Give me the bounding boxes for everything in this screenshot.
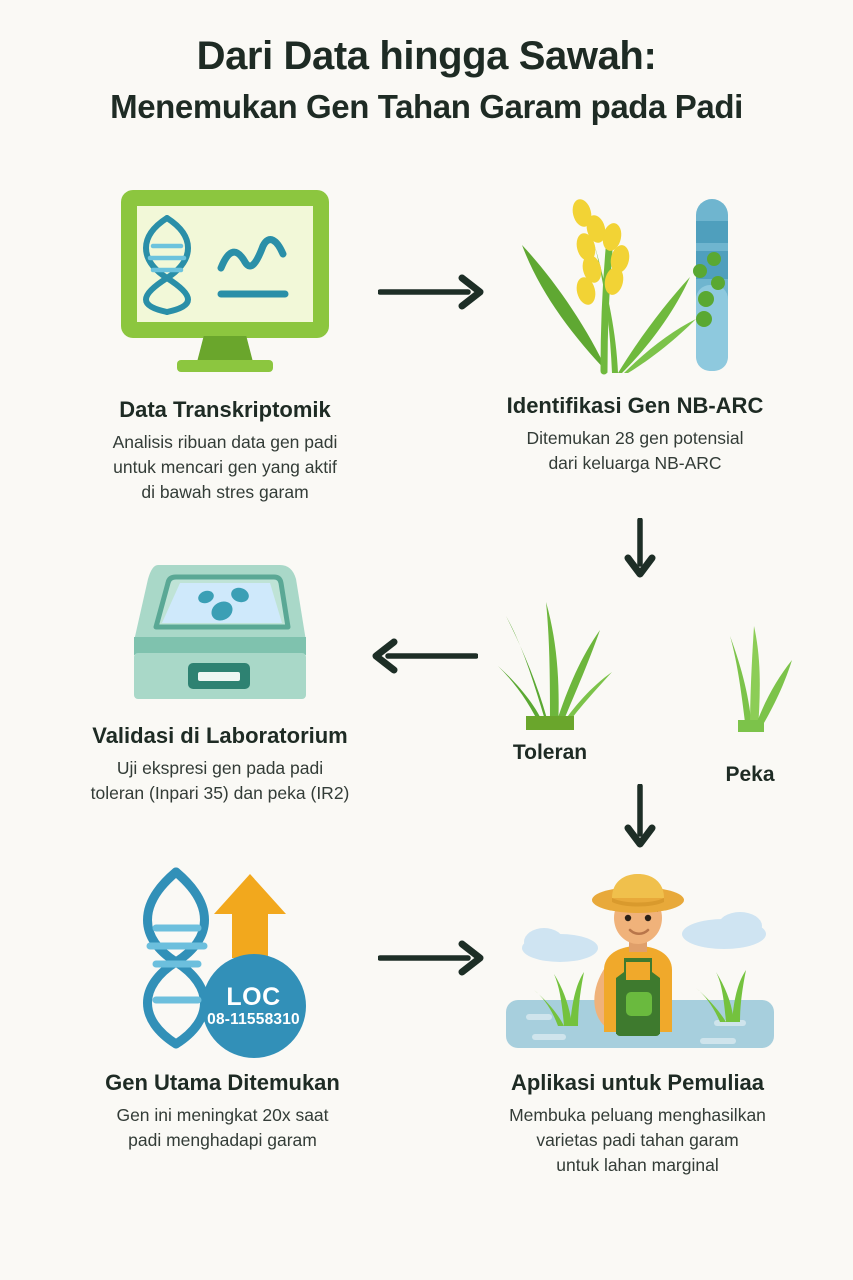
step-description-line: Ditemukan 28 gen potensial [430, 426, 840, 451]
monitor-frame [121, 190, 329, 338]
farmer-paddy-icon [488, 862, 788, 1052]
tolerance-comparison: Toleran Peka [480, 580, 810, 787]
monitor-neck [197, 336, 253, 362]
step-description-line: untuk lahan marginal [430, 1153, 845, 1178]
step-description-line: dari keluarga NB-ARC [430, 451, 840, 476]
test-tube [693, 199, 728, 371]
lab-machine-graphic [120, 545, 320, 705]
infographic-title: Dari Data hingga Sawah: Menemukan Gen Ta… [0, 34, 853, 126]
gene-loc-prefix: LOC [226, 984, 280, 1010]
monitor-screen [137, 206, 313, 322]
comparison-sensitive: Peka [690, 580, 810, 787]
dna-helix [147, 872, 204, 1044]
step-title: Validasi di Laboratorium [10, 723, 430, 749]
step-description: Analisis ribuan data gen padi untuk menc… [20, 430, 430, 505]
upward-arrow-icon [214, 874, 286, 958]
step-description-line: Gen ini meningkat 20x saat [15, 1103, 430, 1128]
step-title: Identifikasi Gen NB-ARC [430, 393, 840, 419]
step-validasi-di-laboratorium: Validasi di Laboratorium Uji ekspresi ge… [10, 545, 430, 806]
step-description: Uji ekspresi gen pada padi toleran (Inpa… [10, 756, 430, 806]
monitor-base [177, 360, 273, 372]
rice-grains [570, 197, 632, 307]
arrow-identifikasi-to-comparison [622, 518, 658, 580]
title-line-1: Dari Data hingga Sawah: [0, 34, 853, 78]
comparison-sensitive-label: Peka [690, 763, 810, 787]
gene-loc-badge: LOC 08-11558310 [202, 954, 306, 1058]
step-description: Gen ini meningkat 20x saat padi menghada… [15, 1103, 430, 1153]
comparison-tolerant-label: Toleran [480, 741, 620, 765]
step-title: Gen Utama Ditemukan [15, 1070, 430, 1096]
farmer-figure [592, 874, 684, 1036]
step-description: Ditemukan 28 gen potensial dari keluarga… [430, 426, 840, 476]
step-description-line: Membuka peluang menghasilkan [430, 1103, 845, 1128]
dna-loc-badge-icon: LOC 08-11558310 [118, 862, 328, 1052]
step-title: Aplikasi untuk Pemuliaa [430, 1070, 845, 1096]
step-aplikasi-untuk-pemuliaa: Aplikasi untuk Pemuliaa Membuka peluang … [430, 862, 845, 1178]
step-description-line: padi menghadapi garam [15, 1128, 430, 1153]
grass-tolerant-icon [480, 580, 620, 730]
step-description-line: Uji ekspresi gen pada padi [10, 756, 430, 781]
step-title: Data Transkriptomik [20, 397, 430, 423]
step-description-line: di bawah stres garam [20, 480, 430, 505]
step-description: Membuka peluang menghasilkan varietas pa… [430, 1103, 845, 1178]
title-line-2: Menemukan Gen Tahan Garam pada Padi [0, 88, 853, 126]
step-data-transkriptomik: Data Transkriptomik Analisis ribuan data… [20, 190, 430, 505]
screen-contents-icon [137, 206, 313, 322]
step-description-line: untuk mencari gen yang aktif [20, 455, 430, 480]
gene-loc-number: 08-11558310 [207, 1012, 300, 1028]
rice-plant-testtube-icon [500, 185, 770, 375]
infographic-page: Dari Data hingga Sawah: Menemukan Gen Ta… [0, 0, 853, 1280]
step-identifikasi-gen-nb-arc: Identifikasi Gen NB-ARC Ditemukan 28 gen… [430, 185, 840, 476]
step-description-line: toleran (Inpari 35) dan peka (IR2) [10, 781, 430, 806]
step-gen-utama-ditemukan: LOC 08-11558310 Gen Utama Ditemukan Gen … [15, 862, 430, 1153]
farmer-field-graphic [488, 862, 788, 1052]
comparison-tolerant: Toleran [480, 580, 620, 787]
step-description-line: varietas padi tahan garam [430, 1128, 845, 1153]
grass-sensitive-icon [690, 602, 810, 752]
lab-machine-icon [120, 545, 320, 705]
rice-and-tube-graphic [500, 185, 770, 375]
step-description-line: Analisis ribuan data gen padi [20, 430, 430, 455]
monitor-dna-icon [121, 190, 329, 375]
arrow-comparison-to-aplikasi [622, 784, 658, 852]
